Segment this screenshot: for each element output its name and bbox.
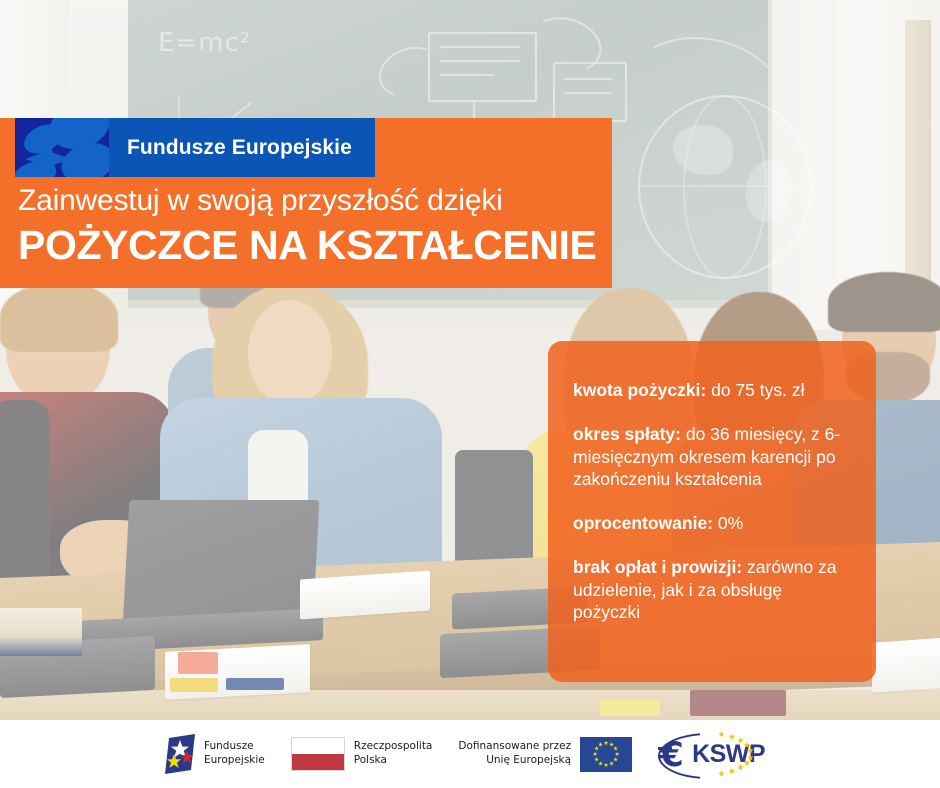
- header-banner-band: Fundusze Europejskie Zainwestuj w swoją …: [0, 118, 612, 288]
- footer-caption-fundusze-line1: Fundusze: [204, 740, 265, 754]
- loan-details-panel: kwota pożyczki: do 75 tys. zł okres spła…: [548, 341, 876, 682]
- loan-detail-repayment-label: okres spłaty:: [573, 424, 681, 444]
- loan-detail-amount: kwota pożyczki: do 75 tys. zł: [573, 379, 852, 402]
- eu-flag-star: [594, 746, 599, 751]
- person-boy-hood: [0, 400, 50, 590]
- eu-flag-star: [598, 761, 603, 766]
- eu-flag-icon: [580, 737, 632, 772]
- footer-caption-polska-line2: Polska: [354, 754, 433, 768]
- footer-caption-unia: Dofinansowane przez Unię Europejską: [458, 740, 571, 768]
- kswp-star: [718, 770, 725, 777]
- eu-flag-star: [609, 761, 614, 766]
- footer-logo-kswp: € KSWP: [658, 730, 758, 778]
- poland-flag-red-stripe: [292, 754, 344, 770]
- loan-detail-fees: brak opłat i prowizji: zarówno za udziel…: [573, 556, 852, 624]
- chalk-box-2-line-2: [564, 92, 612, 94]
- footer-logo-bar: Fundusze Europejskie Rzeczpospolita Pols…: [0, 720, 940, 788]
- eu-flag-star: [598, 742, 603, 747]
- chalk-formula-text: E=mc²: [158, 28, 251, 58]
- loan-detail-interest-label: oprocentowanie:: [573, 513, 713, 533]
- header-subtitle: Zainwestuj w swoją przyszłość dzięki: [18, 184, 503, 218]
- loan-detail-fees-label: brak opłat i prowizji:: [573, 557, 742, 577]
- book-front: [690, 690, 786, 716]
- poland-flag-icon: [291, 737, 345, 771]
- poland-flag-white-stripe: [292, 738, 344, 754]
- loan-detail-interest: oprocentowanie: 0%: [573, 512, 852, 535]
- chalk-box-1: [428, 32, 537, 102]
- eu-flag-star: [613, 746, 618, 751]
- kswp-euro-icon: €: [660, 738, 684, 772]
- loan-detail-amount-label: kwota pożyczki:: [573, 380, 706, 400]
- header-main-title: POŻYCZCE NA KSZTAŁCENIE: [18, 222, 596, 269]
- book-left: [0, 608, 82, 656]
- kswp-label: KSWP: [692, 742, 765, 767]
- fe-logo-text-panel: Fundusze Europejskie: [109, 118, 375, 177]
- sticky-note-yellow: [170, 678, 218, 692]
- loan-detail-amount-value: do 75 tys. zł: [706, 380, 804, 400]
- footer-caption-fundusze: Fundusze Europejskie: [204, 740, 265, 768]
- eu-flag-star: [609, 742, 614, 747]
- promotional-banner: E=mc²: [0, 0, 940, 788]
- sticky-note-front: [600, 700, 660, 716]
- fe-logo-mark-icon: [15, 118, 109, 177]
- kswp-star: [718, 731, 725, 738]
- footer-caption-unia-line1: Dofinansowane przez: [458, 740, 571, 754]
- chalk-continent-2: [746, 160, 790, 222]
- loan-detail-repayment: okres spłaty: do 36 miesięcy, z 6-miesię…: [573, 423, 852, 491]
- eu-flag-star: [604, 741, 609, 746]
- loan-detail-interest-value: 0%: [713, 513, 743, 533]
- chalk-box-1-line-2: [440, 60, 520, 62]
- fundusze-europejskie-icon: [165, 734, 195, 774]
- eu-flag-star: [615, 752, 620, 757]
- eu-flag-star: [604, 763, 609, 768]
- sticky-note-blue: [226, 678, 284, 690]
- footer-caption-unia-line2: Unię Europejską: [458, 754, 571, 768]
- footer-caption-polska: Rzeczpospolita Polska: [354, 740, 433, 768]
- footer-caption-polska-line1: Rzeczpospolita: [354, 740, 433, 754]
- fe-logo-label: Fundusze Europejskie: [127, 136, 352, 160]
- person-boy-hair: [0, 282, 118, 352]
- footer-logo-fundusze-europejskie: Fundusze Europejskie: [165, 734, 265, 774]
- footer-logo-unia-europejska: Dofinansowane przez Unię Europejską: [458, 737, 632, 772]
- kswp-star: [728, 768, 735, 775]
- open-book-right: [872, 637, 940, 693]
- eu-flag-star: [613, 757, 618, 762]
- footer-caption-fundusze-line2: Europejskie: [204, 754, 265, 768]
- chalk-box-2-line-1: [564, 78, 612, 80]
- footer-logo-rzeczpospolita-polska: Rzeczpospolita Polska: [291, 737, 433, 771]
- chalk-box-1-line-1: [440, 46, 520, 48]
- person-man2-hair: [828, 272, 940, 332]
- eu-flag-star: [594, 757, 599, 762]
- table-front: [0, 690, 940, 720]
- person-woman-face: [248, 300, 332, 406]
- sticky-note-red: [178, 652, 218, 674]
- fundusze-europejskie-logo-header: Fundusze Europejskie: [15, 118, 375, 177]
- footer-logos-container: Fundusze Europejskie Rzeczpospolita Pols…: [165, 720, 758, 788]
- eu-flag-star: [593, 752, 598, 757]
- chalk-box-1-line-3: [440, 74, 495, 76]
